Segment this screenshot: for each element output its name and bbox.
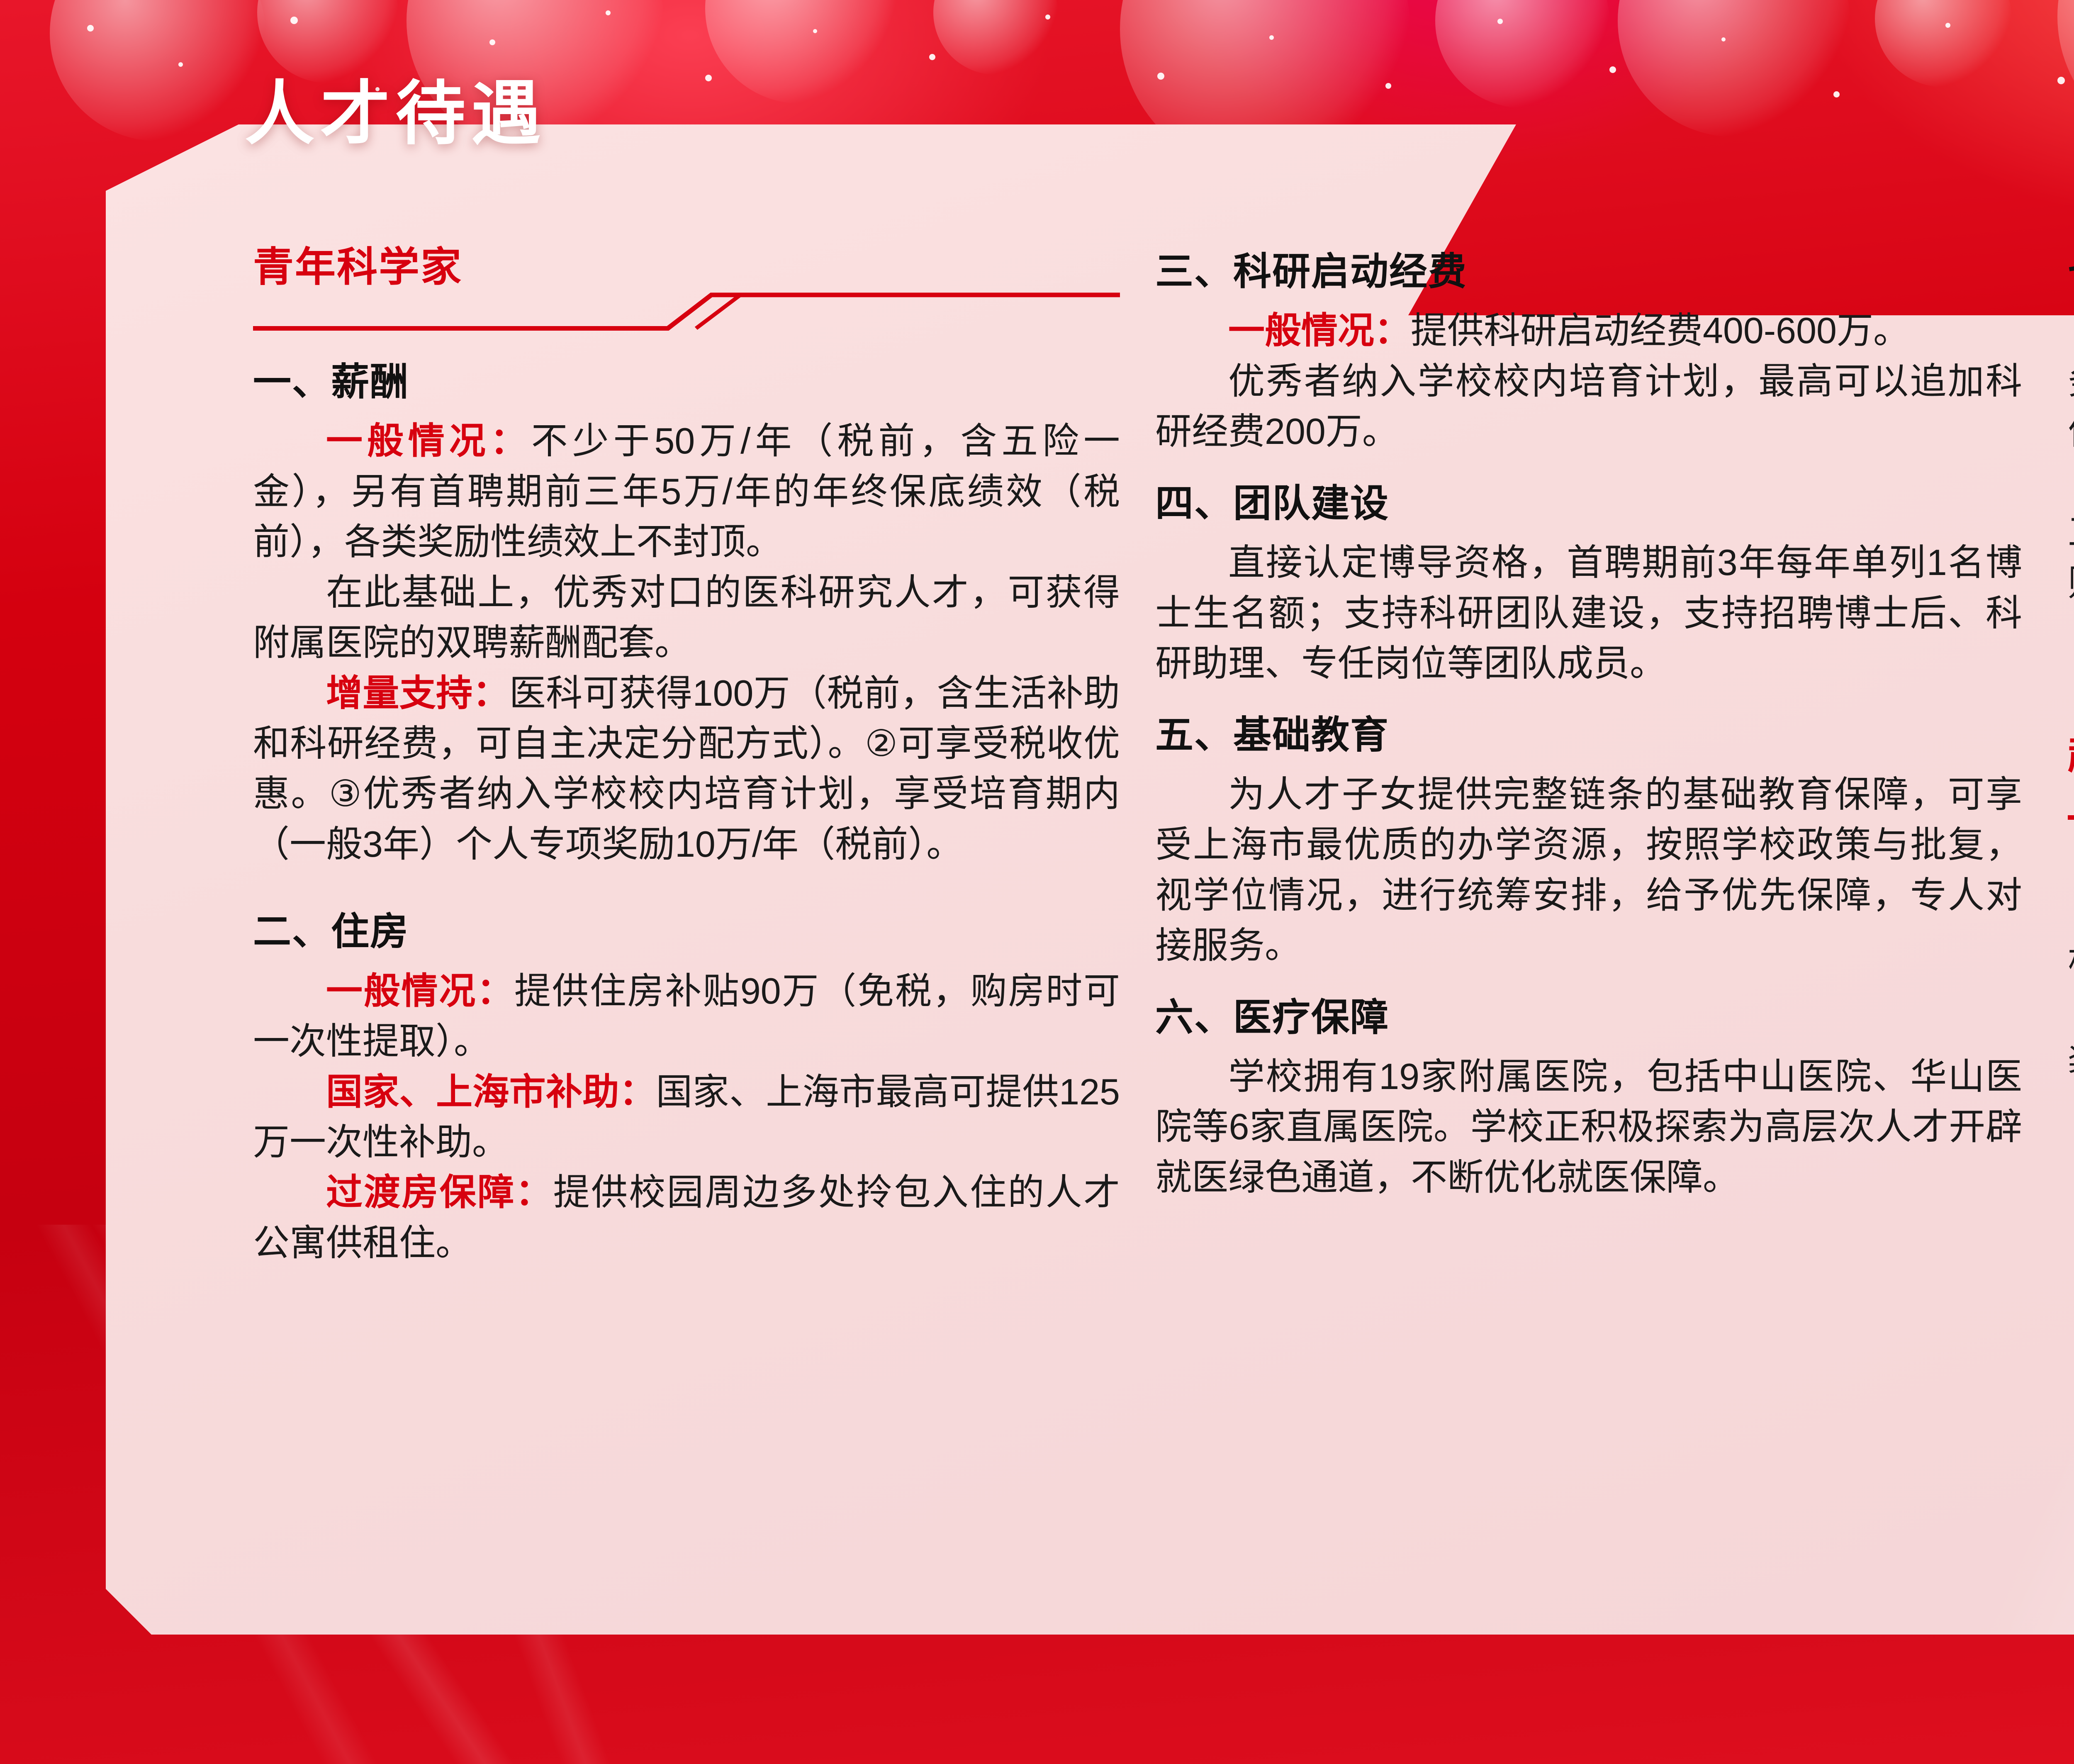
list-item: 2、学校统一的有竞争力的基础薪资，课题组还可根据个人情况配套；	[2068, 885, 2074, 986]
block-heading-housing: 二、住房	[253, 909, 1120, 955]
paragraph: 一般情况：提供住房补贴90万（免税，购房时可一次性提取）。	[253, 966, 1120, 1067]
paragraph: 一般情况：提供科研启动经费400-600万。	[1155, 305, 2022, 356]
section-header-super-postdoc: 超级博士后	[2068, 732, 2074, 811]
section-divider-zline	[2068, 779, 2074, 824]
column-3: 七、人才生态 上级部门“一对一”服务：上海市设立高层次人才服务专窗，在办理各类证…	[2068, 124, 2074, 1087]
paragraph: 国家、上海市补助：国家、上海市最高可提供125万一次性补助。	[253, 1067, 1120, 1167]
column-2: 三、科研启动经费 一般情况：提供科研启动经费400-600万。 优秀者纳入学校校…	[1155, 124, 2022, 1202]
block-heading-medical-care: 六、医疗保障	[1155, 995, 2022, 1040]
paragraph: 上级部门“一对一”服务：上海市设立高层次人才服务专窗，在办理各类证照、进境物品通…	[2068, 305, 2074, 456]
paragraph: 增量支持：医科可获得100万（税前，含生活补助和科研经费，可自主决定分配方式）。…	[253, 668, 1120, 870]
section-title: 超级博士后	[2068, 732, 2074, 777]
section-divider-zline	[253, 290, 1120, 335]
paragraph: 过渡房保障：提供校园周边多处拎包入住的人才公寓供租住。	[253, 1167, 1120, 1268]
section-title: 青年科学家	[253, 245, 463, 290]
column-1: 青年科学家 一、薪酬 一般情况：不少于50万/年（税前，含五险一金），另有首聘期…	[253, 124, 1120, 1268]
paragraph: 学校拥有19家附属医院，包括中山医院、华山医院等6家直属医院。学校正积极探索为高…	[1155, 1051, 2022, 1202]
paragraph: 为人才子女提供完整链条的基础教育保障，可享受上海市最优质的办学资源，按照学校政策…	[1155, 769, 2022, 971]
section-header-youth-scientist: 青年科学家	[253, 245, 1120, 319]
paragraph: 在此基础上，优秀对口的医科研究人才，可获得附属医院的双聘薪酬配套。	[253, 567, 1120, 668]
block-heading-basic-education: 五、基础教育	[1155, 712, 2022, 758]
paragraph: 直接认定博导资格，首聘期前3年每年单列1名博士生名额；支持科研团队建设，支持招聘…	[1155, 537, 2022, 688]
block-heading-salary: 一、薪酬	[253, 359, 1120, 405]
paragraph: 优秀者纳入学校校内培育计划，最高可以追加科研经费200万。	[1155, 356, 2022, 457]
block-heading-research-fund: 三、科研启动经费	[1155, 249, 2022, 295]
block-heading-talent-ecosystem: 七、人才生态	[2068, 249, 2074, 295]
block-heading-team-building: 四、团队建设	[1155, 481, 2022, 526]
list-item: 1、提供一流的研究平台和科研环境；	[2068, 835, 2074, 885]
paragraph: 海外引才补贴项目：针对海外引进的科技人才（理工医科）提供入境后、入职前的临时性、…	[2068, 457, 2074, 608]
content-columns: 青年科学家 一、薪酬 一般情况：不少于50万/年（税前，含五险一金），另有首聘期…	[106, 124, 2074, 1635]
paragraph: 一般情况：不少于50万/年（税前，含五险一金），另有首聘期前三年5万/年的年终保…	[253, 416, 1120, 567]
list-item: 3、直接入住博士后公寓：一室一厅或两室一厅全装修住房（配备有基本家具）。	[2068, 986, 2074, 1087]
